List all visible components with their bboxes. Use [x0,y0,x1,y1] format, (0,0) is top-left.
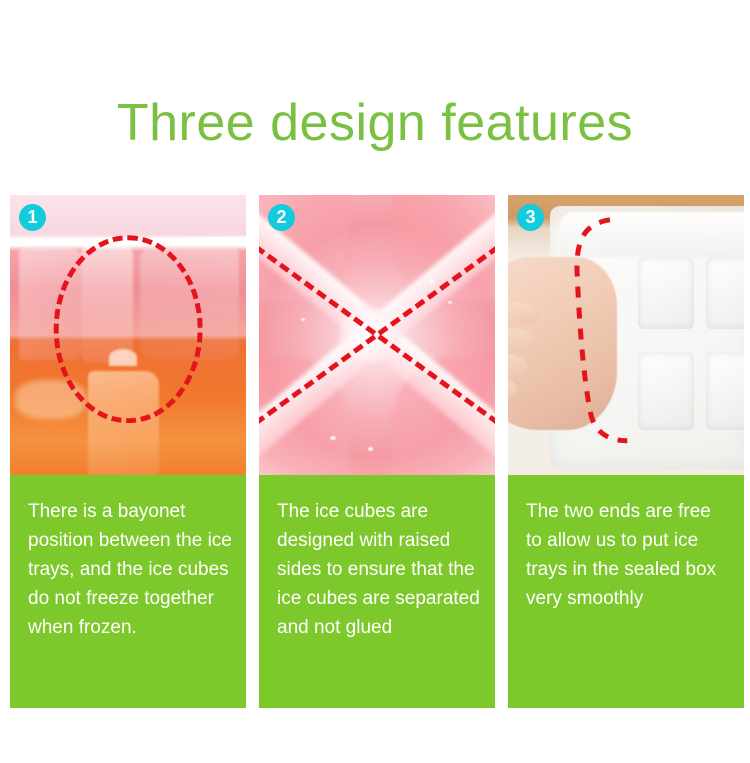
feature-photo-1: 1 [10,195,246,475]
red-dashed-circle-annotation-icon [54,236,203,424]
tray-cell [706,352,744,430]
step-badge-1: 1 [19,204,46,231]
finger [508,354,527,378]
feature-photo-2: 2 [259,195,495,475]
feature-caption-text-2: The ice cubes are designed with raised s… [277,497,481,642]
feature-caption-text-1: There is a bayonet position between the … [28,497,232,642]
feature-panel-2: 2 The ice cubes are designed with raised… [259,195,495,708]
feature-caption-1: There is a bayonet position between the … [10,475,246,708]
step-badge-3: 3 [517,204,544,231]
water-droplet [429,279,434,283]
water-droplet [368,447,373,451]
feature-caption-3: The two ends are free to allow us to put… [508,475,744,708]
water-droplet [301,318,305,321]
feature-caption-2: The ice cubes are designed with raised s… [259,475,495,708]
tray-cell [706,257,744,330]
page-title: Three design features [0,91,750,155]
finger [508,328,535,352]
feature-panel-1: 1 There is a bayonet position between th… [10,195,246,708]
finger [508,302,540,326]
step-badge-2: 2 [268,204,295,231]
feature-photo-3: 3 [508,195,744,475]
water-droplet [448,301,452,304]
feature-caption-text-3: The two ends are free to allow us to put… [526,497,730,613]
feature-panels: 1 There is a bayonet position between th… [10,195,745,708]
feature-panel-3: 3 The two ends are free to allow us to p… [508,195,744,708]
finger [508,378,517,401]
red-dashed-curve-annotation-icon [560,215,669,450]
water-droplet [330,436,336,440]
